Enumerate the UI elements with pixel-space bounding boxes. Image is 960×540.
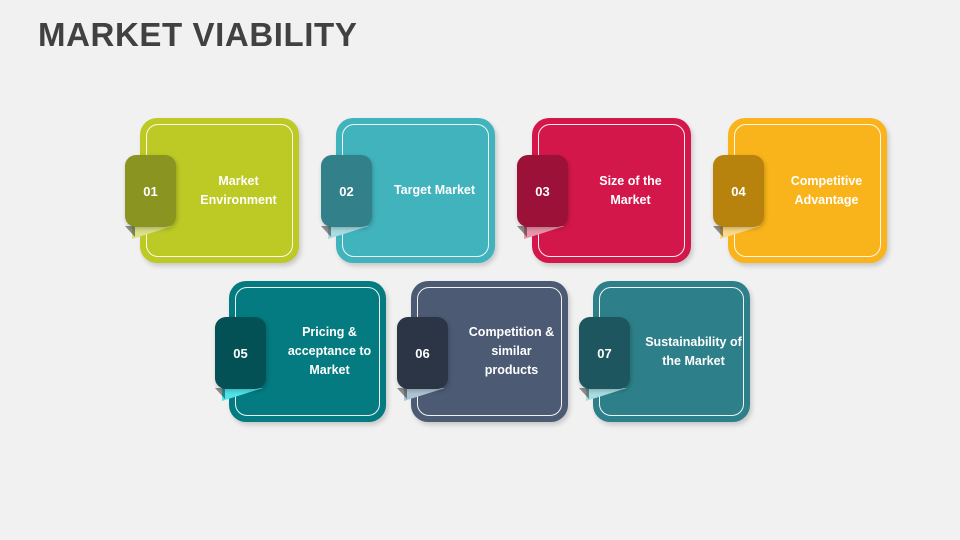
fold-highlight — [222, 388, 263, 401]
process-card[interactable]: Competition & similar products06 — [411, 281, 568, 422]
card-label: Size of the Market — [580, 118, 681, 263]
badge-fold-decoration — [321, 226, 369, 239]
card-number-badge[interactable]: 06 — [397, 317, 448, 389]
card-number-label: 05 — [233, 346, 247, 361]
badge-fold-decoration — [713, 226, 761, 239]
slide-canvas: MARKET VIABILITY Market Environment01Tar… — [0, 0, 960, 540]
process-card[interactable]: Size of the Market03 — [532, 118, 691, 263]
fold-highlight — [132, 226, 173, 239]
card-number-label: 04 — [731, 184, 745, 199]
process-card[interactable]: Sustainability of the Market07 — [593, 281, 750, 422]
card-row-top: Market Environment01Target Market02Size … — [140, 118, 887, 263]
card-label: Market Environment — [188, 118, 289, 263]
card-number-label: 06 — [415, 346, 429, 361]
card-number-label: 03 — [535, 184, 549, 199]
process-card[interactable]: Pricing & acceptance to Market05 — [229, 281, 386, 422]
process-card[interactable]: Market Environment01 — [140, 118, 299, 263]
card-label: Competitive Advantage — [776, 118, 877, 263]
process-card[interactable]: Competitive Advantage04 — [728, 118, 887, 263]
fold-highlight — [720, 226, 761, 239]
page-title: MARKET VIABILITY — [38, 16, 357, 54]
card-label: Pricing & acceptance to Market — [281, 281, 378, 422]
badge-fold-decoration — [517, 226, 565, 239]
fold-highlight — [524, 226, 565, 239]
fold-highlight — [586, 388, 627, 401]
card-row-bottom: Pricing & acceptance to Market05Competit… — [229, 281, 750, 422]
card-number-label: 01 — [143, 184, 157, 199]
badge-fold-decoration — [579, 388, 627, 401]
card-number-badge[interactable]: 04 — [713, 155, 764, 227]
card-label: Competition & similar products — [463, 281, 560, 422]
card-number-label: 07 — [597, 346, 611, 361]
card-number-badge[interactable]: 07 — [579, 317, 630, 389]
card-number-badge[interactable]: 02 — [321, 155, 372, 227]
card-number-badge[interactable]: 01 — [125, 155, 176, 227]
card-number-label: 02 — [339, 184, 353, 199]
card-label: Sustainability of the Market — [645, 281, 742, 422]
card-label: Target Market — [384, 118, 485, 263]
card-number-badge[interactable]: 03 — [517, 155, 568, 227]
badge-fold-decoration — [397, 388, 445, 401]
fold-highlight — [404, 388, 445, 401]
process-card[interactable]: Target Market02 — [336, 118, 495, 263]
badge-fold-decoration — [125, 226, 173, 239]
badge-fold-decoration — [215, 388, 263, 401]
fold-highlight — [328, 226, 369, 239]
card-number-badge[interactable]: 05 — [215, 317, 266, 389]
